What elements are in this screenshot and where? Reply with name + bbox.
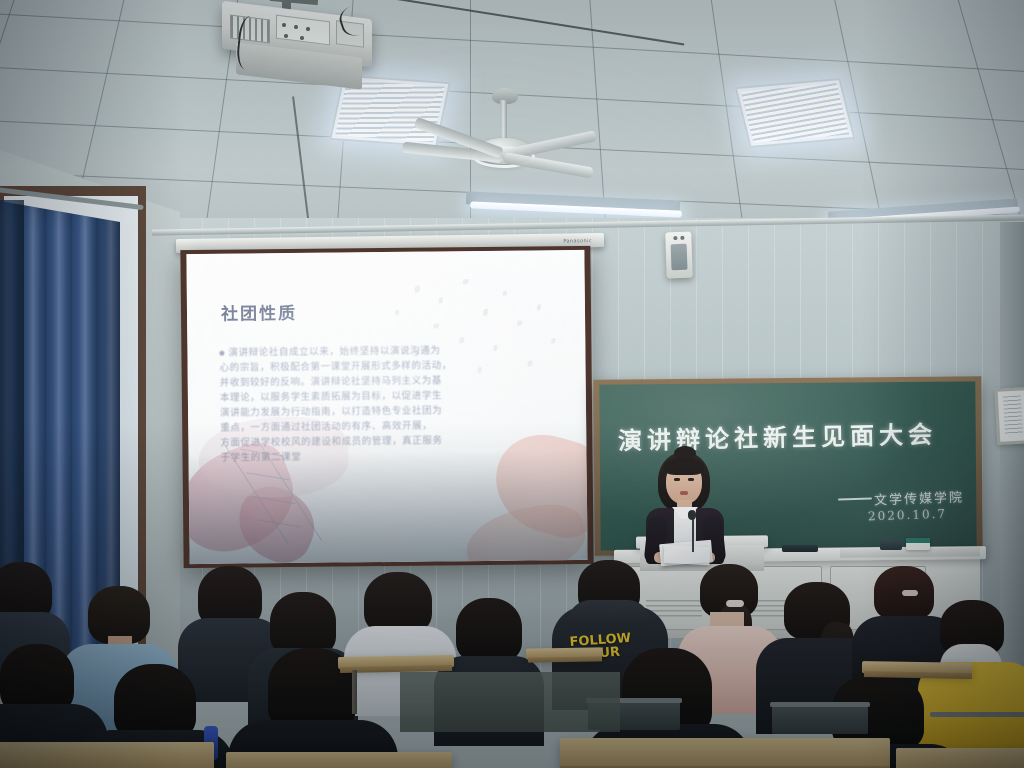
presenter-fringe [664,458,704,475]
classroom-floor [400,672,620,732]
chair-frame [770,702,870,707]
ceiling-fan [446,88,616,180]
projection-screen-surface: 社团性质 演讲辩论社自成立以来，始终坚持以演说沟通为 心的宗旨，积极配合第一课堂… [186,250,587,564]
presenter-mouth [680,491,688,495]
classroom-photo: Panasonic [0,0,1024,768]
blackboard-eraser-secondary[interactable] [782,545,818,552]
wall-speaker [665,232,693,279]
student-hood [568,600,650,630]
student-hair [270,592,336,656]
microphone-head-icon [688,510,696,520]
speaker-mount-hole [680,236,684,240]
blackboard-signature: 文学传媒学院 [874,486,965,508]
microphone-stand [692,516,694,552]
student-hair [364,572,432,634]
student-desk-front[interactable] [0,742,214,768]
desk-leg [352,670,357,714]
projector-indicator [306,27,310,31]
student-hair-tie [726,600,744,607]
chalk-box[interactable] [906,538,930,550]
fan-blade [503,152,594,178]
student-hair [114,664,196,740]
student-desk-front[interactable] [226,752,452,768]
presenter [632,452,742,562]
projector-indicator [294,25,298,29]
presenter-papers-second-sheet [664,545,711,565]
notice-text-lines [1003,396,1023,437]
presenter-eye-right [688,478,694,481]
blackboard-eraser[interactable] [880,540,902,550]
student-chair[interactable] [772,704,868,734]
ceiling-projector [222,10,392,96]
chair-frame [930,712,1024,717]
blackboard-date: 2020.10.7 [868,507,948,524]
powerpoint-slide: 社团性质 演讲辩论社自成立以来，始终坚持以演说沟通为 心的宗旨，积极配合第一课堂… [186,250,587,564]
chalk-box-lid [906,538,930,543]
student-hair [456,598,522,662]
blackboard-headline: 演讲辩论社新生见面大会 [618,415,938,457]
speaker-mount-hole [673,236,677,240]
student-hair-clip-icon [902,590,918,596]
student-desk-front[interactable] [560,738,890,768]
projector-indicator [282,23,286,27]
projector-indicator [300,36,304,40]
screen-housing-brand: Panasonic [563,238,592,244]
presenter-eye-left [674,478,680,481]
louvre-grille [741,83,849,142]
student-desk-front[interactable] [896,748,1024,768]
screen-lower-shadow [188,450,587,564]
wall-notice-board [995,387,1024,445]
speaker-grille [671,244,688,271]
ceiling-panel-light-right [735,78,856,148]
projector-indicator [284,34,288,38]
